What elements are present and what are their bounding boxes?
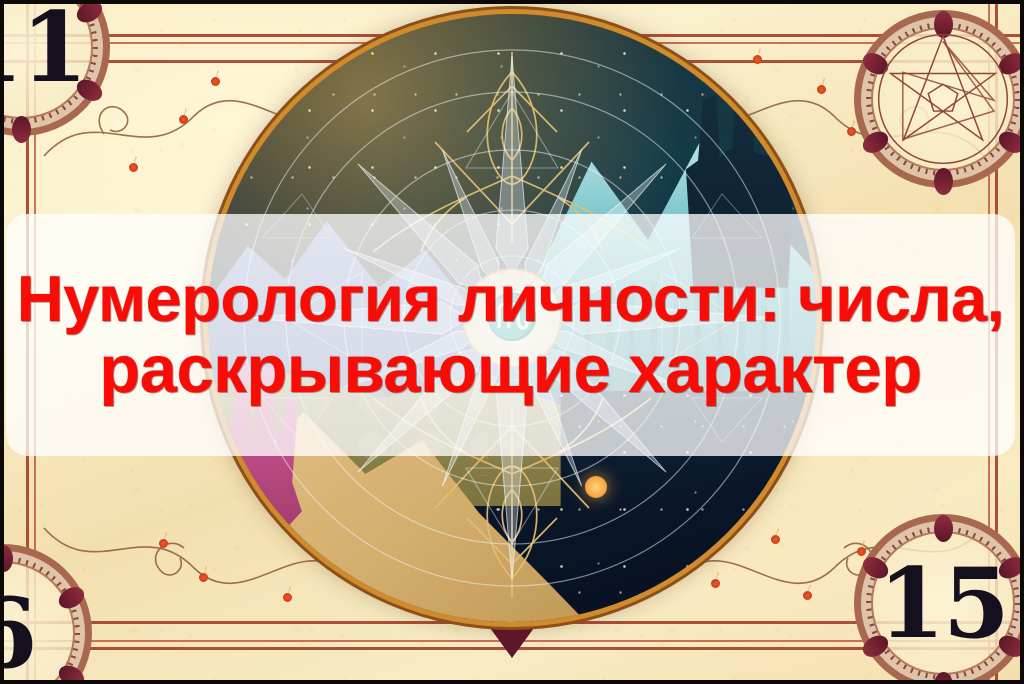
- corner-roundel-top-left: 11: [0, 0, 110, 136]
- corner-roundel-bottom-right: 15: [854, 514, 1024, 684]
- roundel-number-label: 15: [854, 514, 1024, 684]
- title-line-2: раскрывающие характер: [99, 336, 921, 404]
- rosette-flower: [122, 156, 144, 178]
- numerology-poster: ♏ 11: [0, 0, 1024, 684]
- title-banner: Нумерология личности: числа, раскрывающи…: [6, 214, 1015, 456]
- title-line-1: Нумерология личности: числа,: [17, 266, 1005, 332]
- roundel-gem: [934, 168, 953, 195]
- rosette-flower: [152, 532, 174, 554]
- heptagram-star-icon: [876, 32, 1010, 166]
- roundel-number-label: 11: [0, 0, 110, 136]
- corner-roundel-bottom-left: 6: [0, 544, 92, 684]
- roundel-number-label: 6: [0, 544, 92, 684]
- corner-roundel-top-right: [854, 10, 1024, 188]
- rosette-flower: [172, 108, 194, 130]
- apex-triangle-bottom: [490, 628, 534, 658]
